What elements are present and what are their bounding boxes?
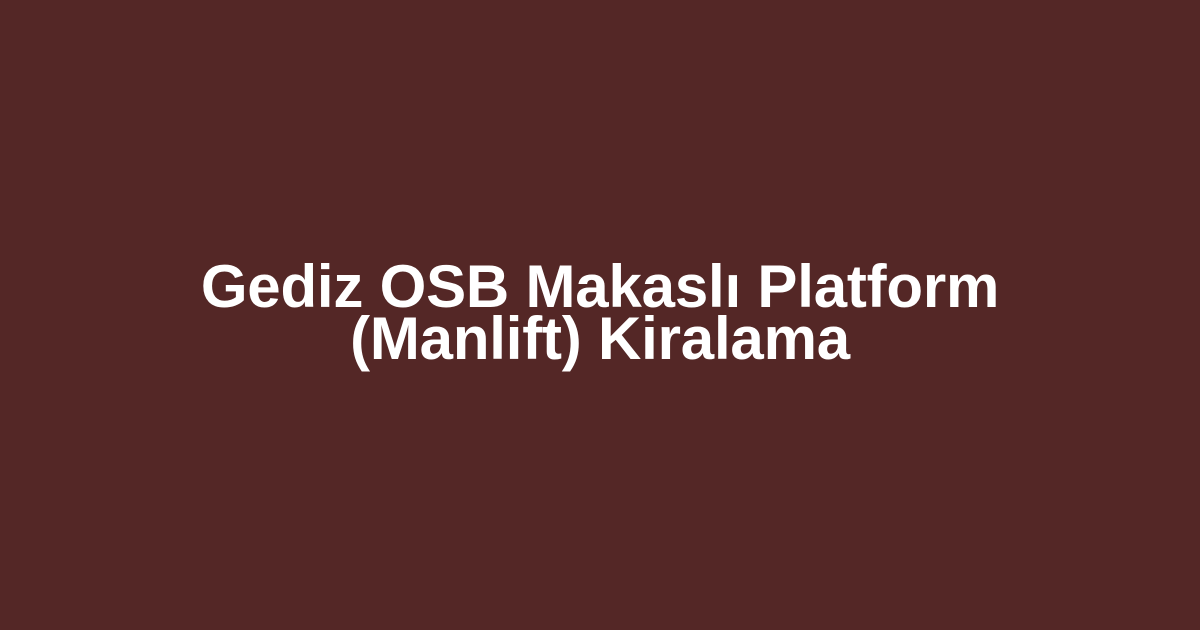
share-card: Gediz OSB Makaslı Platform (Manlift) Kir… (0, 0, 1200, 630)
page-title: Gediz OSB Makaslı Platform (Manlift) Kir… (100, 261, 1100, 365)
title-block: Gediz OSB Makaslı Platform (Manlift) Kir… (100, 263, 1100, 367)
